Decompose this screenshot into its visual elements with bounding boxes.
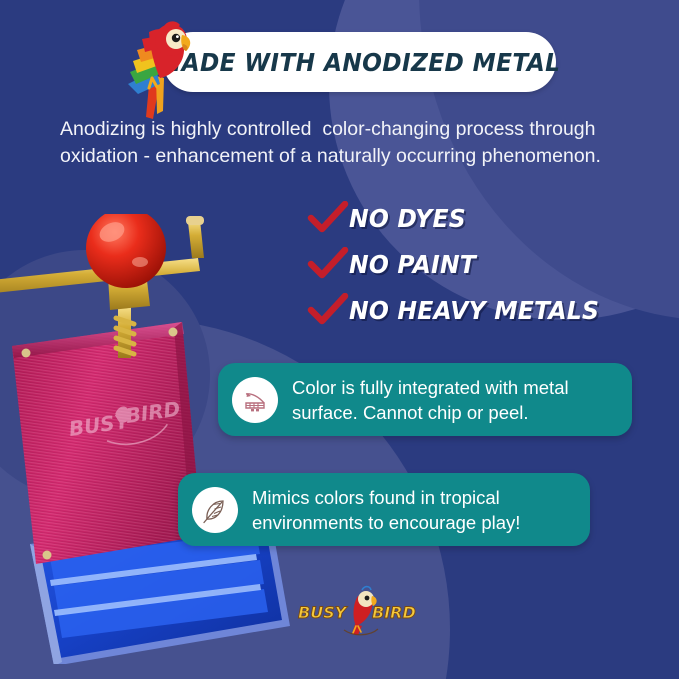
paint-surface-icon <box>241 386 269 414</box>
feature-icon-wrapper <box>232 377 278 423</box>
brand-word-right: BIRD <box>372 603 416 622</box>
check-icon <box>307 247 349 281</box>
checklist-item-label: NO PAINT <box>349 250 476 279</box>
parrot-icon <box>116 18 194 120</box>
feature-icon-wrapper <box>192 487 238 533</box>
intro-paragraph: Anodizing is highly controlled color-cha… <box>60 116 620 170</box>
checklist-item-label: NO DYES <box>349 204 466 233</box>
feature-callout-tropical-colors: Mimics colors found in tropical environm… <box>178 473 590 546</box>
checklist-item-label: NO HEAVY METALS <box>349 296 599 325</box>
checklist-item-no-dyes: NO DYES <box>307 196 637 240</box>
checklist-item-no-paint: NO PAINT <box>307 242 637 286</box>
product-pink-body: BUSY BIRD <box>12 322 202 564</box>
feature-callout-integrated-color: Color is fully integrated with metal sur… <box>218 363 632 436</box>
benefits-checklist: NO DYES NO PAINT NO HEAVY METALS <box>307 196 637 334</box>
check-icon <box>307 293 349 327</box>
brand-word-left: BUSY <box>298 603 348 622</box>
header-banner: MADE WITH ANODIZED METAL <box>163 32 556 92</box>
feature-text: Color is fully integrated with metal sur… <box>292 375 569 425</box>
check-icon <box>307 201 349 235</box>
brand-logo: BUSY BIRD <box>296 584 426 640</box>
feature-text: Mimics colors found in tropical environm… <box>252 485 520 535</box>
leaf-icon <box>201 496 229 524</box>
page-title: MADE WITH ANODIZED METAL <box>158 48 560 77</box>
checklist-item-no-heavy-metals: NO HEAVY METALS <box>307 288 637 332</box>
infographic-canvas: MADE WITH ANODIZED METAL Anodizing is hi… <box>0 0 679 679</box>
busy-bird-foraging-toy-image: BUSY BIRD <box>0 214 300 664</box>
